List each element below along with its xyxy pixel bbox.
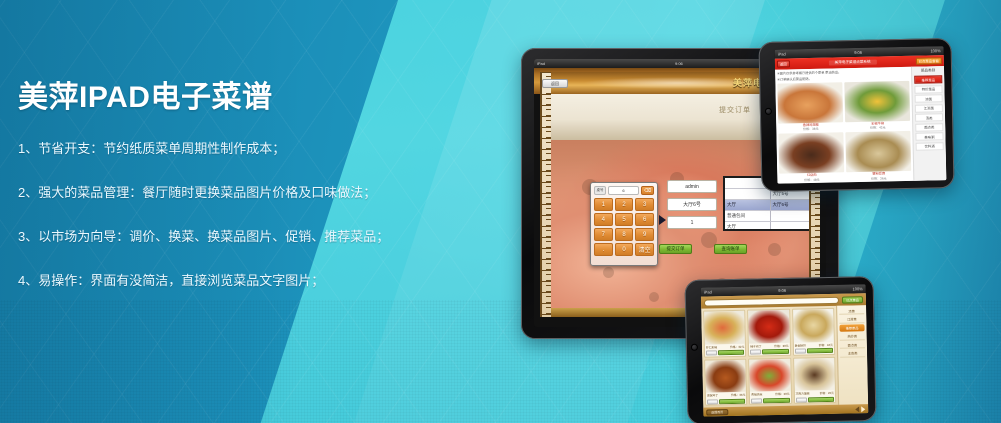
dish-list-main: ※图片仅供参考餐厅提供的个菜单 菜油热品。 ※订单确认后菜品配送。 香辣鸡翅根 … — [775, 66, 946, 184]
food-detail-spot — [768, 243, 781, 256]
dish-name: 青椒肉丝 — [751, 392, 762, 396]
order-action-buttons[interactable]: 提交订单查询账单 — [659, 244, 747, 254]
dish-actions[interactable] — [795, 396, 835, 403]
dish-price: 价格：28元 — [775, 392, 789, 396]
status-clock: 9:06 — [675, 61, 683, 66]
dish-detail-button[interactable] — [751, 398, 762, 403]
header-back-button[interactable]: 返回 — [777, 60, 790, 67]
dish-photo — [845, 131, 911, 172]
dish-photo — [793, 309, 834, 342]
dish-price: 价格：36元 — [731, 393, 745, 397]
dish-grid: ※图片仅供参考餐厅提供的个菜单 菜油热品。 ※订单确认后菜品配送。 香辣鸡翅根 … — [775, 67, 913, 184]
dish-card[interactable]: 蟹粉豆腐 价格：36元 — [845, 131, 911, 181]
dish-detail-button[interactable] — [750, 349, 761, 354]
dish-card[interactable]: 红烧肉 价格：48元 — [778, 132, 844, 182]
category-item[interactable]: 江浙菜 — [839, 316, 864, 324]
order-subtitle: 提交订单 — [719, 105, 751, 115]
greek-key-unit — [809, 215, 820, 226]
dish-card[interactable]: 香辣鸡翅根 价格：38元 — [777, 82, 843, 132]
dish-actions[interactable] — [794, 347, 834, 354]
greek-key-unit — [540, 171, 551, 182]
dish-add-button[interactable] — [719, 398, 745, 404]
tablet-dish-list-device: iPad 9:06 100% 返回 美萍电子菜谱点菜系统 已点菜品查看 ※图片仅… — [758, 38, 954, 192]
category-item[interactable]: 推荐菜品 — [839, 324, 864, 332]
greek-key-unit — [540, 160, 551, 171]
dish-photo — [748, 310, 789, 343]
greek-key-unit — [540, 127, 551, 138]
dish-detail-button[interactable] — [795, 348, 806, 353]
dish-grid-main: 虾仁彩椒价格：32元辣子鸡丁价格：38元黄金酥饼价格：18元宫保鸡丁价格：36元… — [701, 305, 868, 407]
keypad-key[interactable]: 1 — [594, 198, 613, 211]
dish-add-button[interactable] — [718, 350, 744, 356]
greek-key-unit — [540, 303, 551, 314]
order-action-button[interactable]: 查询账单 — [714, 244, 747, 254]
greek-key-unit — [540, 193, 551, 204]
keypad-label: 桌号 — [594, 186, 606, 195]
dish-price: 价格：42元 — [845, 125, 910, 130]
status-battery: 100% — [852, 286, 862, 291]
status-carrier: iPad — [537, 61, 545, 66]
greek-key-unit — [540, 105, 551, 116]
keypad-key[interactable]: 5 — [615, 213, 634, 226]
dish-price: 价格：22元 — [820, 391, 834, 395]
greek-key-unit — [540, 314, 551, 317]
category-item[interactable]: 饮料酒 — [916, 142, 944, 151]
category-sidebar-title: 菜品类别 — [914, 68, 942, 74]
dish-row: 红烧肉 价格：48元 蟹粉豆腐 价格：36元 — [778, 131, 911, 182]
dish-photo — [704, 311, 745, 344]
ordered-items-button[interactable]: 已点菜品 — [842, 296, 863, 303]
dish-price: 价格：48元 — [779, 177, 844, 182]
category-item[interactable]: 江浙菜 — [915, 104, 943, 113]
category-item[interactable]: 凉菜 — [915, 94, 943, 103]
order-action-button[interactable]: 提交订单 — [659, 244, 692, 254]
greek-key-unit — [540, 182, 551, 193]
dish-card[interactable]: 青椒肉丝价格：28元 — [748, 357, 791, 404]
marketing-copy: 美萍IPAD电子菜谱 1、节省开支：节约纸质菜单周期性制作成本； 2、强大的菜品… — [18, 72, 448, 318]
keypad-key[interactable]: 清空 — [635, 243, 654, 256]
dish-add-button[interactable] — [763, 397, 789, 403]
greek-key-unit — [540, 138, 551, 149]
greek-key-unit — [809, 226, 820, 237]
order-field[interactable]: admin — [667, 180, 717, 193]
greek-key-unit — [809, 193, 820, 204]
status-battery: 100% — [930, 48, 940, 53]
status-clock: 9:06 — [778, 288, 786, 293]
dish-add-button[interactable] — [807, 348, 833, 354]
table-cell[interactable]: 大厅 — [725, 222, 771, 231]
category-list[interactable]: 推荐菜品特价菜品凉菜江浙菜汤类面点类美味粥饮料酒 — [914, 75, 944, 150]
dish-detail-button[interactable] — [706, 350, 717, 355]
dish-card[interactable]: 巧克力蛋糕价格：22元 — [793, 356, 836, 403]
tablet-dish-list-screen: iPad 9:06 100% 返回 美萍电子菜谱点菜系统 已点菜品查看 ※图片仅… — [775, 46, 947, 184]
greek-key-unit — [540, 281, 551, 292]
keypad-key[interactable]: 4 — [594, 213, 613, 226]
category-item[interactable]: 美味粥 — [915, 132, 943, 141]
feature-item-1: 1、节省开支：节约纸质菜单周期性制作成本； — [18, 142, 448, 155]
back-button[interactable]: 返回 — [542, 79, 568, 88]
keypad-key[interactable]: 9 — [635, 228, 654, 241]
dish-card[interactable]: 宫保鸡丁价格：36元 — [704, 358, 747, 405]
header-ordered-button[interactable]: 已点菜品查看 — [915, 57, 941, 65]
greek-key-unit — [540, 248, 551, 259]
triangle-left-icon[interactable] — [855, 406, 859, 412]
category-sidebar: 凉菜江浙菜推荐菜品热炒类面点类主食类 — [836, 305, 868, 405]
dish-card[interactable]: 辣子鸡丁价格：38元 — [747, 309, 790, 356]
greek-key-unit — [540, 94, 551, 105]
pagination-controls[interactable] — [855, 406, 865, 412]
dish-card[interactable]: 虾仁彩椒价格：32元 — [703, 310, 746, 357]
dish-name: 辣子鸡丁 — [750, 344, 761, 348]
dish-detail-button[interactable] — [707, 399, 718, 404]
greek-key-unit — [540, 215, 551, 226]
keypad-display[interactable]: 6 — [608, 186, 639, 195]
home-button[interactable] — [691, 344, 698, 351]
feature-list: 1、节省开支：节约纸质菜单周期性制作成本； 2、强大的菜品管理：餐厅随时更换菜品… — [18, 142, 448, 287]
dish-photo — [750, 358, 791, 391]
category-sidebar: 菜品类别 推荐菜品特价菜品凉菜江浙菜汤类面点类美味粥饮料酒 — [911, 66, 946, 183]
status-carrier: iPad — [778, 51, 786, 56]
table-cell[interactable]: 大厅 — [725, 200, 771, 211]
greek-key-border-left — [540, 72, 551, 317]
greek-key-unit — [540, 149, 551, 160]
greek-key-unit — [540, 116, 551, 127]
triangle-right-icon[interactable] — [861, 406, 865, 412]
keypad-key[interactable]: 0 — [615, 243, 634, 256]
keypad-key[interactable]: 8 — [615, 228, 634, 241]
dish-photo — [778, 132, 844, 173]
search-input[interactable] — [704, 296, 839, 306]
dish-price: 价格：36元 — [846, 175, 911, 180]
greek-key-unit — [540, 237, 551, 248]
category-item[interactable]: 汤类 — [915, 113, 943, 122]
dish-photo — [844, 80, 910, 121]
keypad-key[interactable]: . — [594, 243, 613, 256]
tablet-dish-grid-device: iPad 9:06 100% 已点菜品 虾仁彩椒价格：32元辣子鸡丁价格：38元… — [685, 276, 877, 423]
dish-actions[interactable] — [705, 349, 745, 356]
greek-key-unit — [809, 204, 820, 215]
dish-price: 价格：38元 — [778, 126, 843, 131]
table-cell[interactable] — [771, 222, 810, 231]
page-title: 美萍IPAD电子菜谱 — [18, 72, 448, 116]
dish-add-button[interactable] — [808, 396, 834, 402]
dish-list-app: 返回 美萍电子菜谱点菜系统 已点菜品查看 ※图片仅供参考餐厅提供的个菜单 菜油热… — [775, 55, 947, 184]
food-detail-spot — [649, 292, 659, 302]
status-carrier: iPad — [704, 289, 712, 294]
greek-key-unit — [540, 270, 551, 281]
feature-item-2: 2、强大的菜品管理：餐厅随时更换菜品图片价格及口味做法； — [18, 186, 448, 199]
numeric-keypad[interactable]: 桌号 6 ⌫ 123456789.0清空 — [590, 182, 658, 266]
category-item[interactable]: 特价菜品 — [914, 85, 942, 94]
table-cell[interactable]: 大厅6号 — [771, 200, 810, 211]
dish-add-button[interactable] — [762, 349, 788, 355]
feature-item-4: 4、易操作：界面有没简洁，直接浏览菜品文字图片； — [18, 274, 448, 287]
food-detail-spot — [603, 267, 614, 278]
keypad-key[interactable]: 3 — [635, 198, 654, 211]
category-item[interactable]: 面点类 — [915, 123, 943, 132]
backspace-icon[interactable]: ⌫ — [641, 186, 654, 195]
home-return-button[interactable]: 返回首页 — [706, 409, 728, 415]
dish-price: 价格：38元 — [774, 343, 788, 347]
greek-key-unit — [809, 259, 820, 270]
table-cell[interactable] — [771, 211, 810, 222]
greek-key-unit — [540, 259, 551, 270]
category-list[interactable]: 凉菜江浙菜推荐菜品热炒类面点类主食类 — [839, 307, 865, 357]
order-field[interactable]: 大厅6号 — [667, 198, 717, 211]
dish-card[interactable]: 彩椒牛柳 价格：42元 — [844, 80, 910, 130]
dish-name: 巧克力蛋糕 — [796, 391, 810, 395]
greek-key-unit — [809, 248, 820, 259]
dish-name: 宫保鸡丁 — [707, 393, 718, 397]
keypad-key[interactable]: 6 — [635, 213, 654, 226]
pointer-arrow-icon — [659, 215, 666, 225]
header-title: 美萍电子菜谱点菜系统 — [829, 60, 877, 66]
category-item[interactable]: 主食类 — [840, 350, 865, 358]
dish-actions[interactable] — [749, 348, 789, 355]
dish-price: 价格：18元 — [819, 342, 833, 346]
dish-price: 价格：32元 — [730, 344, 744, 348]
category-item[interactable]: 热炒类 — [840, 333, 865, 341]
keypad-display-row: 桌号 6 ⌫ — [594, 186, 654, 195]
dish-photo — [794, 357, 835, 390]
dish-photo — [777, 82, 843, 123]
greek-key-unit — [540, 226, 551, 237]
keypad-keys[interactable]: 123456789.0清空 — [594, 198, 654, 256]
greek-key-unit — [809, 237, 820, 248]
tablet-dish-grid-screen: iPad 9:06 100% 已点菜品 虾仁彩椒价格：32元辣子鸡丁价格：38元… — [701, 284, 869, 416]
order-field[interactable]: 1 — [667, 216, 717, 229]
dish-row: 香辣鸡翅根 价格：38元 彩椒牛柳 价格：42元 — [777, 80, 910, 131]
category-item[interactable]: 推荐菜品 — [914, 75, 942, 84]
dish-photo — [705, 359, 746, 392]
status-clock: 9:06 — [854, 50, 862, 55]
dish-name: 虾仁彩椒 — [706, 345, 717, 349]
keypad-key[interactable]: 2 — [615, 198, 634, 211]
order-form-fields[interactable]: admin大厅6号1 — [667, 180, 717, 234]
category-item[interactable]: 凉菜 — [839, 307, 864, 315]
dish-card[interactable]: 黄金酥饼价格：18元 — [792, 308, 835, 355]
table-cell[interactable]: 普通包间 — [725, 211, 771, 222]
dish-actions[interactable] — [706, 398, 746, 405]
dish-actions[interactable] — [750, 397, 790, 404]
dish-name: 黄金酥饼 — [795, 343, 806, 347]
table-cell[interactable] — [725, 189, 771, 200]
feature-item-3: 3、以市场为向导：调价、换菜、换菜品图片、促销、推荐菜品； — [18, 230, 448, 243]
dish-detail-button[interactable] — [796, 397, 807, 402]
keypad-key[interactable]: 7 — [594, 228, 613, 241]
dish-card-grid: 虾仁彩椒价格：32元辣子鸡丁价格：38元黄金酥饼价格：18元宫保鸡丁价格：36元… — [701, 306, 838, 408]
dish-grid-app: 已点菜品 虾仁彩椒价格：32元辣子鸡丁价格：38元黄金酥饼价格：18元宫保鸡丁价… — [701, 293, 868, 416]
greek-key-unit — [540, 204, 551, 215]
greek-key-unit — [540, 292, 551, 303]
category-item[interactable]: 面点类 — [840, 341, 865, 349]
